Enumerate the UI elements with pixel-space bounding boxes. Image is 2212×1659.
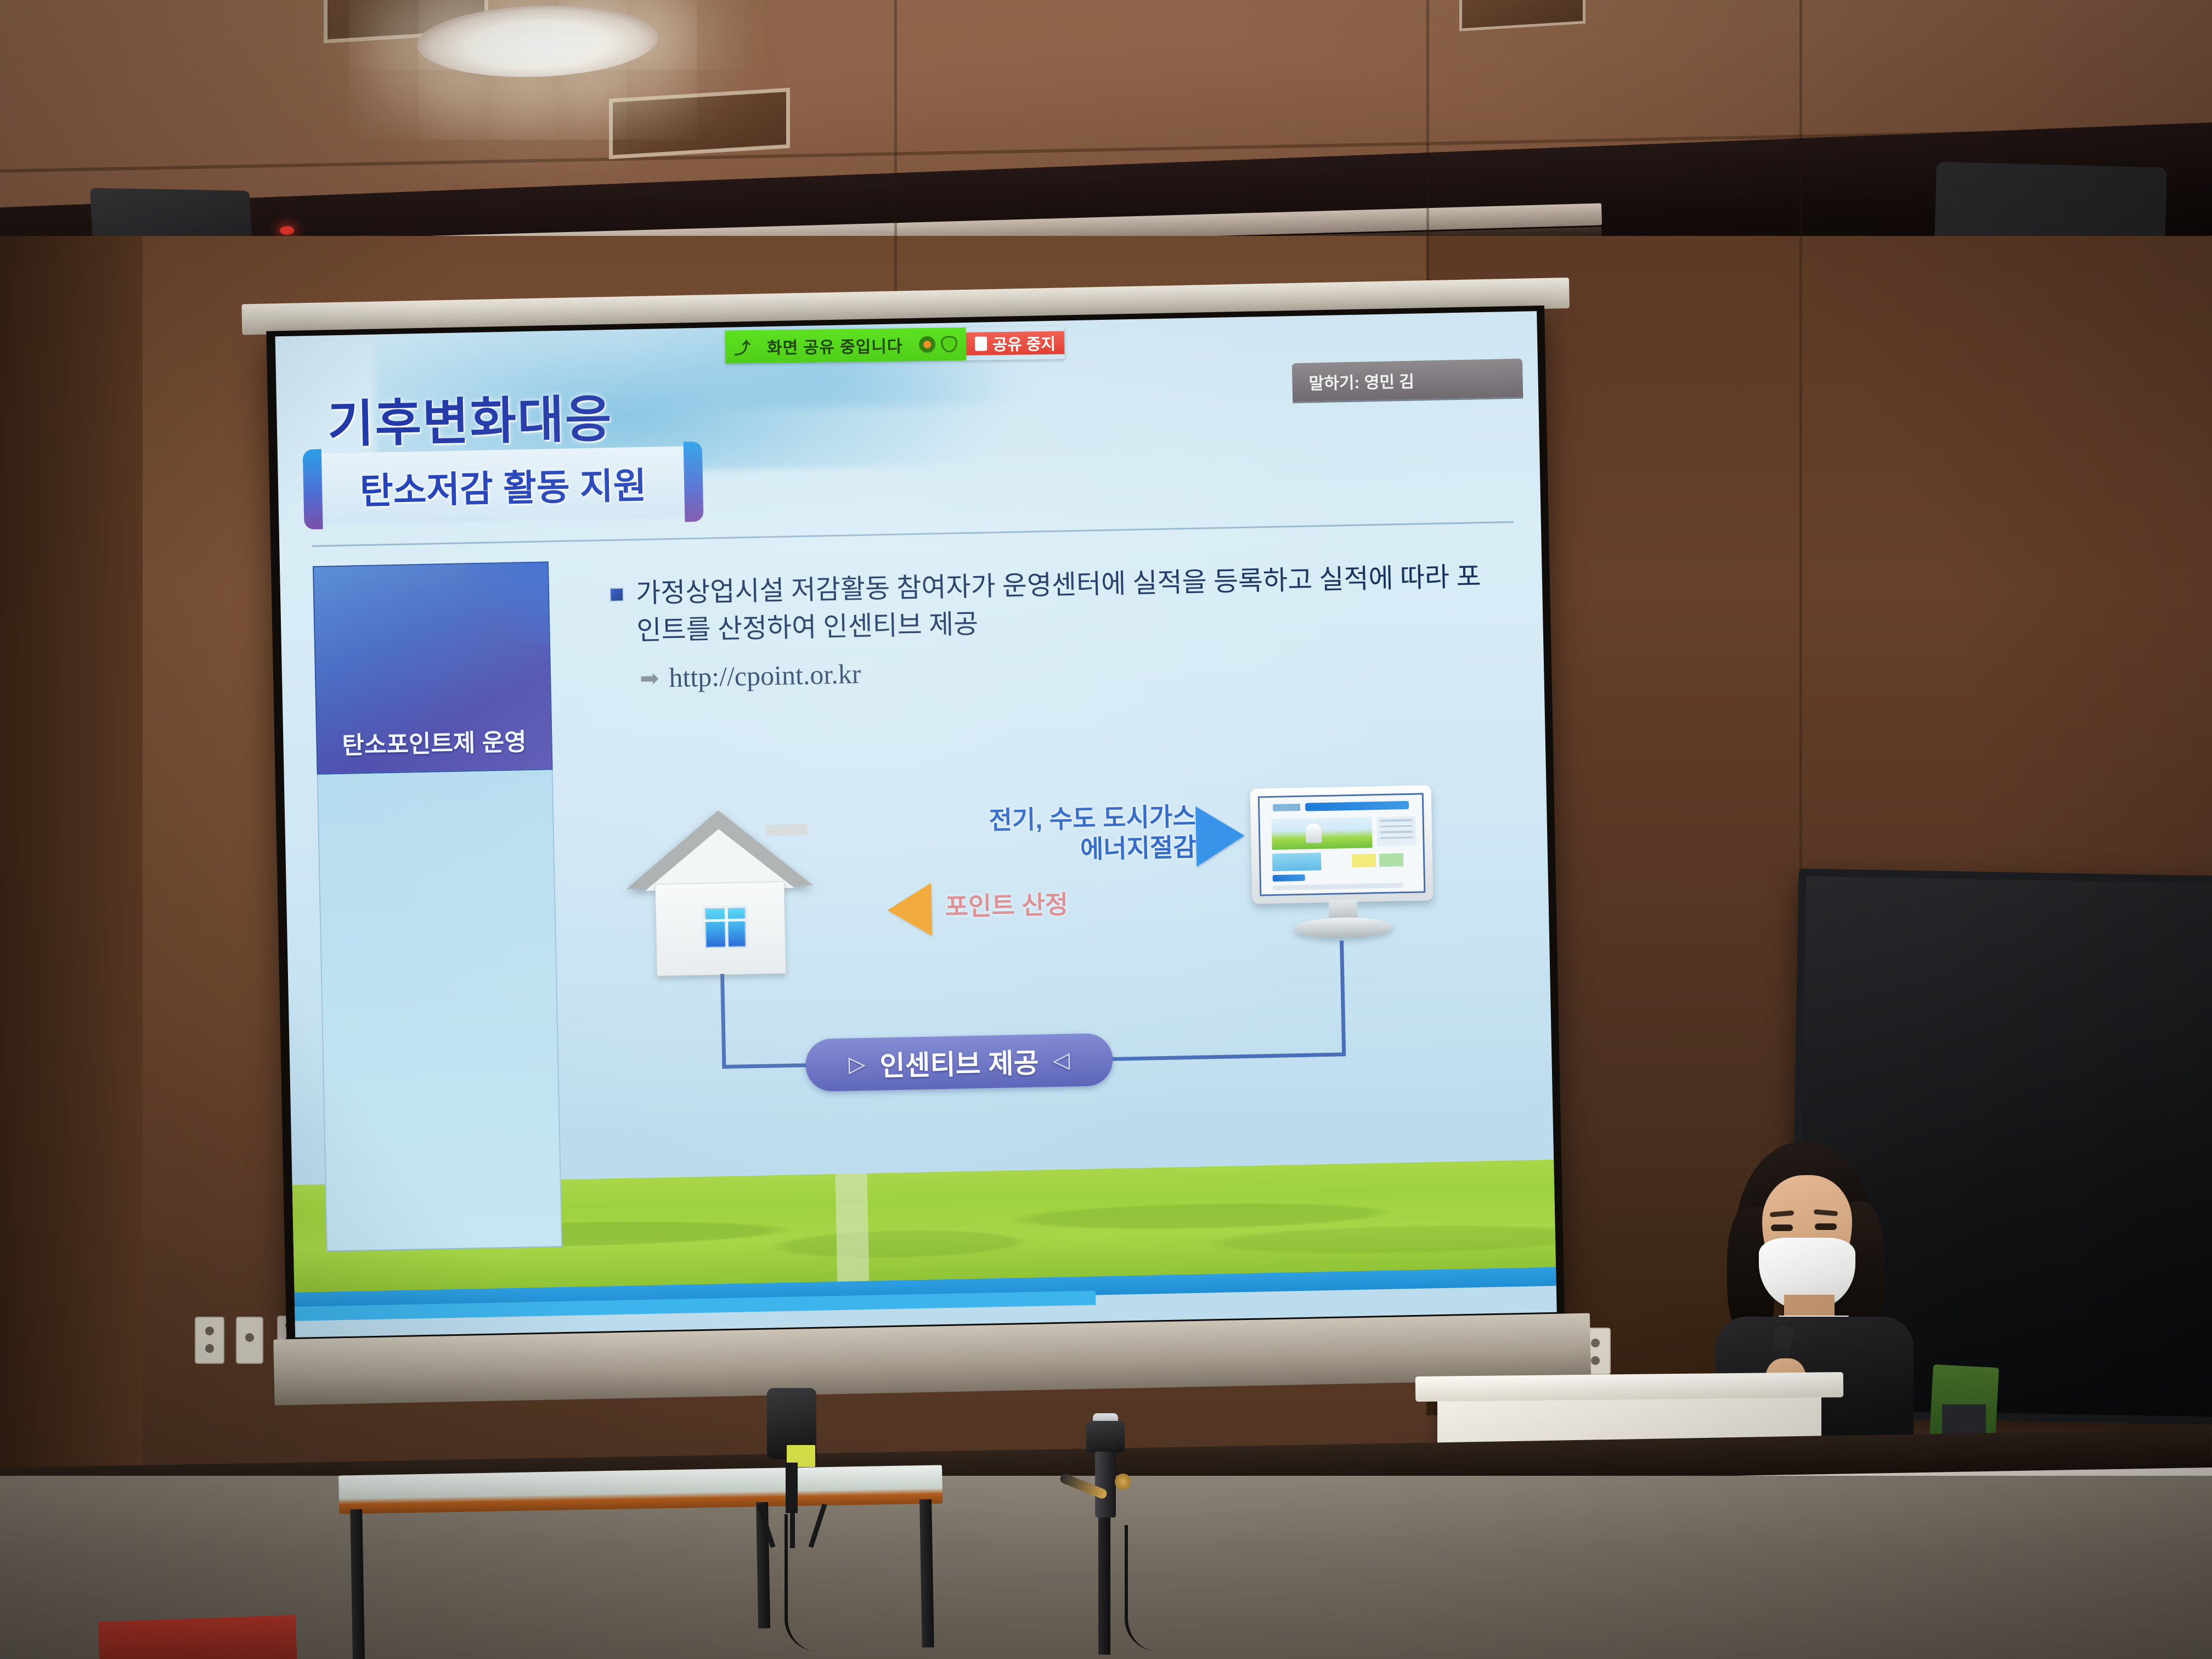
presenter-eye-left: [1771, 1224, 1793, 1231]
ceiling-vent-2: [609, 88, 790, 159]
red-floor-object: [98, 1615, 297, 1659]
points-calculation-label: 포인트 산정: [945, 884, 1069, 923]
diagram-connector-vertical-left: [720, 974, 726, 1068]
slide-divider: [312, 521, 1514, 547]
speaker-badge: 말하기: 영민 김: [1292, 359, 1523, 402]
stand-head: [1095, 1452, 1116, 1517]
url-row: ➡ http://cpoint.or.kr: [640, 645, 1500, 694]
slide-body: 가정상업시설 저감활동 참여자가 운영센터에 실적을 등록하고 실적에 따라 포…: [609, 558, 1500, 695]
arrow-right-blue-icon: [1195, 805, 1245, 867]
presentation-slide: ⤴ 화면 공유 중입니다 공유 중지 기후변화대응 말하기: 영민 김 탄소저감…: [275, 311, 1557, 1338]
site-panel-blue: [1272, 853, 1321, 871]
grass-path: [835, 1173, 869, 1284]
site-panel-green: [1379, 853, 1404, 867]
monitor-bezel: [1250, 785, 1433, 904]
stop-sharing-button[interactable]: 공유 중지: [966, 331, 1064, 356]
stand-pole: [1098, 1517, 1110, 1655]
share-status-pill: ⤴ 화면 공유 중입니다: [725, 328, 967, 364]
monitor-base: [1294, 917, 1393, 940]
bullet-item: 가정상업시설 저감활동 참여자가 운영센터에 실적을 등록하고 실적에 따라 포…: [609, 558, 1499, 650]
triangle-left-icon: ◁: [1053, 1047, 1070, 1073]
slide-subtitle-text: 탄소저감 활동 지원: [359, 456, 647, 515]
stand-knob: [1115, 1474, 1131, 1490]
energy-label-line2: 에너지절감: [900, 832, 1197, 868]
arrow-right-icon: ➡: [640, 664, 659, 692]
site-navbar-placeholder: [1305, 801, 1409, 812]
triangle-right-icon: ▷: [848, 1052, 866, 1077]
share-status-text: 화면 공유 중입니다: [756, 332, 914, 359]
camera-head: [1086, 1421, 1125, 1453]
stand-cable: [1125, 1525, 1169, 1651]
banner-bracket-right-icon: [684, 442, 704, 522]
camera-on-tripod: [757, 1388, 823, 1531]
camera-cable: [785, 1514, 834, 1651]
podium-top-surface: [1415, 1372, 1843, 1402]
sidebar-corner-highlight: [465, 562, 549, 646]
left-wall: [0, 236, 143, 1553]
lecture-hall-photo: ⤴ 화면 공유 중입니다 공유 중지 기후변화대응 말하기: 영민 김 탄소저감…: [0, 0, 2212, 1659]
slide-sidebar-header: 탄소포인트제 운영: [313, 561, 553, 775]
screen-share-toolbar[interactable]: ⤴ 화면 공유 중입니다 공유 중지: [725, 326, 1065, 364]
bullet-square-icon: [610, 588, 624, 602]
site-panel-yellow: [1352, 854, 1376, 868]
status-led-icon: [280, 226, 294, 235]
equipment-table: [338, 1465, 945, 1659]
incentive-pill: ▷ 인센티브 제공 ◁: [805, 1033, 1113, 1092]
site-sidebar-placeholder: [1377, 816, 1417, 845]
table-leg: [919, 1499, 934, 1647]
projection-screen: ⤴ 화면 공유 중입니다 공유 중지 기후변화대응 말하기: 영민 김 탄소저감…: [275, 284, 1558, 1384]
house-icon: [625, 809, 815, 977]
banner-bracket-left-icon: [303, 449, 323, 530]
diagram-connector-horizontal-left: [722, 1063, 810, 1069]
slide-subtitle-banner: 탄소저감 활동 지원: [311, 446, 696, 525]
record-indicator-icon: [919, 336, 935, 353]
desktop-monitor-icon: [1250, 785, 1433, 904]
site-button-placeholder: [1272, 874, 1305, 882]
share-arrow-icon: ⤴: [734, 335, 751, 359]
slide-sidebar-label: 탄소포인트제 운영: [342, 722, 527, 761]
monitor-screen-content: [1258, 793, 1426, 896]
bullet-text: 가정상업시설 저감활동 참여자가 운영센터에 실적을 등록하고 실적에 따라 포…: [635, 558, 1499, 650]
site-hero-placeholder: [1271, 817, 1373, 850]
slide-title: 기후변화대응: [326, 378, 613, 456]
diagram-connector-horizontal-right: [1108, 1052, 1345, 1061]
incentive-label: 인센티브 제공: [879, 1041, 1039, 1084]
wall-outlet-1: [195, 1317, 224, 1364]
presenter-eye-right: [1815, 1223, 1837, 1230]
arrow-left-orange-icon: [887, 883, 932, 936]
site-logo-placeholder: [1273, 804, 1301, 811]
slide-url[interactable]: http://cpoint.or.kr: [669, 658, 861, 693]
wall-outlet-2: [236, 1317, 263, 1364]
diagram-connector-vertical-right: [1340, 940, 1346, 1056]
house-body: [655, 882, 786, 977]
shield-indicator-icon: [941, 336, 957, 352]
table-leg: [350, 1509, 365, 1659]
stop-square-icon: [975, 336, 987, 351]
house-window: [702, 905, 749, 951]
stop-sharing-label: 공유 중지: [992, 331, 1056, 355]
energy-saving-label: 전기, 수도 도시가스 에너지절감: [899, 801, 1197, 868]
site-footer-placeholder: [1273, 883, 1403, 890]
